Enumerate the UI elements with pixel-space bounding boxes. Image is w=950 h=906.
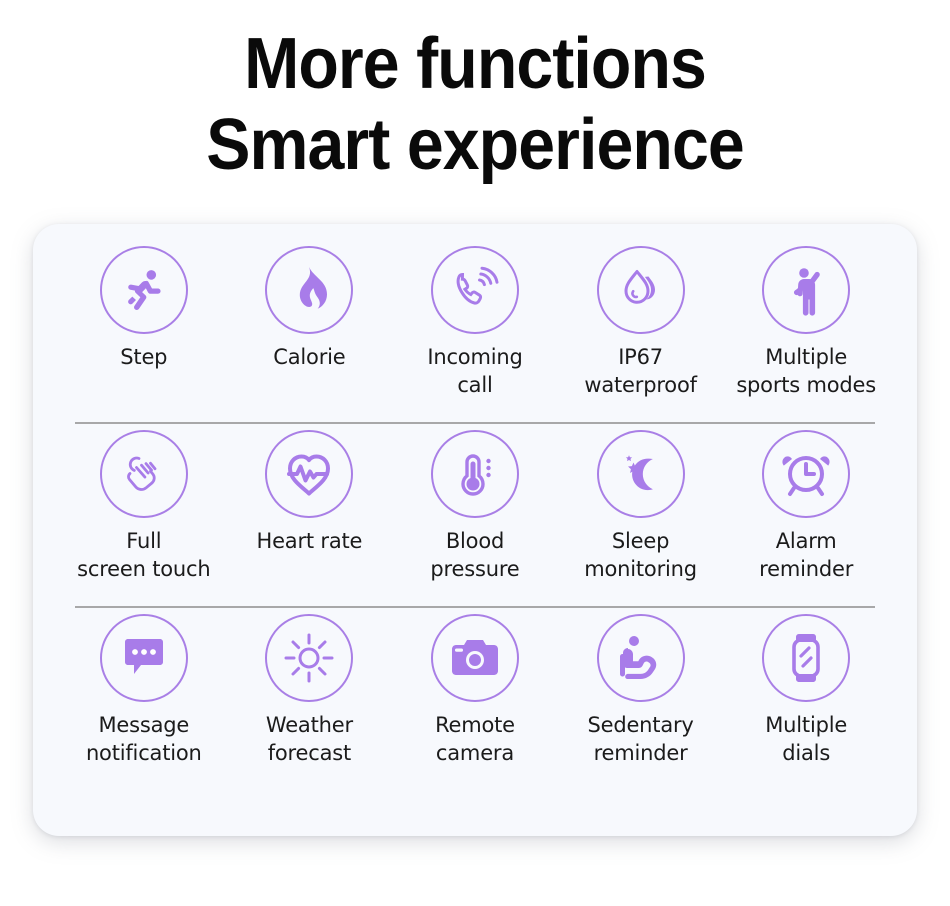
feature-label: Incoming call — [427, 344, 522, 400]
phone-call-icon — [431, 246, 519, 334]
sun-icon — [265, 614, 353, 702]
row-divider-1 — [75, 422, 875, 424]
smartwatch-icon — [762, 614, 850, 702]
feature-label: Sedentary reminder — [587, 712, 693, 768]
page-title-line-1: More functions — [38, 24, 912, 105]
feature-calorie: Calorie — [227, 246, 393, 372]
feature-alarm-reminder: Alarm reminder — [723, 430, 889, 584]
feature-label: Multiple dials — [765, 712, 847, 768]
feature-label: Full screen touch — [77, 528, 210, 584]
feature-multiple-dials: Multiple dials — [723, 614, 889, 768]
moon-stars-icon — [597, 430, 685, 518]
running-person-icon — [100, 246, 188, 334]
feature-label: Heart rate — [257, 528, 363, 556]
row-divider-2 — [75, 606, 875, 608]
heart-pulse-icon — [265, 430, 353, 518]
feature-label: Sleep monitoring — [584, 528, 697, 584]
alarm-clock-icon — [762, 430, 850, 518]
feature-message-notification: Message notification — [61, 614, 227, 768]
feature-row-3: Message notification — [47, 614, 903, 790]
stretching-person-icon — [762, 246, 850, 334]
speech-bubble-icon — [100, 614, 188, 702]
feature-label: Step — [120, 344, 167, 372]
feature-incoming-call: Incoming call — [392, 246, 558, 400]
flame-icon — [265, 246, 353, 334]
feature-label: Calorie — [273, 344, 345, 372]
feature-label: Blood pressure — [430, 528, 519, 584]
feature-label: Message notification — [86, 712, 202, 768]
feature-label: Multiple sports modes — [736, 344, 876, 400]
touch-hand-icon — [100, 430, 188, 518]
feature-label: Alarm reminder — [759, 528, 853, 584]
feature-row-2: Full screen touch Heart rate — [47, 430, 903, 606]
thermometer-icon — [431, 430, 519, 518]
feature-highlight-page: More functions Smart experience Step — [0, 0, 950, 906]
feature-label: IP67 waterproof — [584, 344, 696, 400]
feature-sports-modes: Multiple sports modes — [723, 246, 889, 400]
feature-remote-camera: Remote camera — [392, 614, 558, 768]
feature-label: Weather forecast — [266, 712, 353, 768]
feature-heart-rate: Heart rate — [227, 430, 393, 556]
feature-blood-pressure: Blood pressure — [392, 430, 558, 584]
page-title-line-2: Smart experience — [38, 105, 912, 186]
feature-sedentary-reminder: Sedentary reminder — [558, 614, 724, 768]
sitting-person-icon — [597, 614, 685, 702]
feature-weather-forecast: Weather forecast — [227, 614, 393, 768]
feature-waterproof: IP67 waterproof — [558, 246, 724, 400]
page-title: More functions Smart experience — [38, 0, 912, 185]
feature-sleep-monitoring: Sleep monitoring — [558, 430, 724, 584]
features-card: Step Calorie — [33, 224, 917, 836]
camera-icon — [431, 614, 519, 702]
feature-label: Remote camera — [435, 712, 515, 768]
feature-row-1: Step Calorie — [47, 246, 903, 422]
feature-step: Step — [61, 246, 227, 372]
water-droplet-icon — [597, 246, 685, 334]
feature-full-screen-touch: Full screen touch — [61, 430, 227, 584]
